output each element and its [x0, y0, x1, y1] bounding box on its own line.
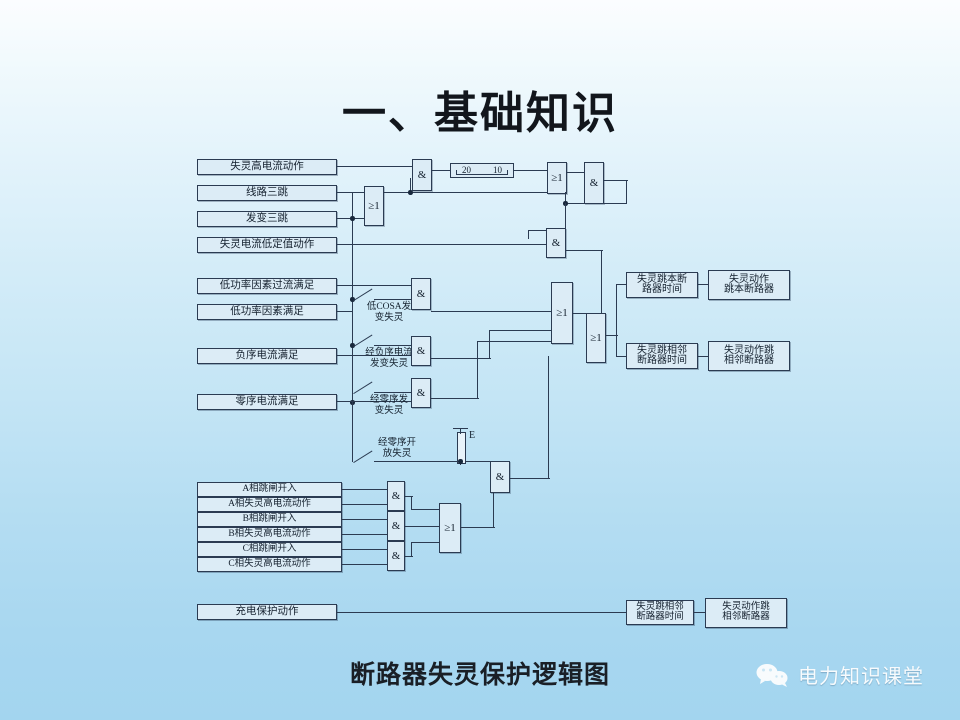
wire	[337, 192, 364, 193]
output-action-label: 失灵动作 跳本断路器	[724, 275, 774, 296]
input-box-负序电流满足[interactable]: 负序电流满足	[197, 348, 337, 364]
gate-and-1[interactable]: &	[412, 159, 432, 191]
wire	[342, 534, 387, 535]
wire	[411, 542, 439, 543]
page-title: 一、基础知识	[0, 92, 960, 136]
wire	[374, 345, 411, 346]
gate-symbol: &	[392, 490, 401, 502]
timer-value-left: 20	[462, 165, 471, 175]
output-timer-失灵跳相邻断路器时间[interactable]: 失灵跳相邻 断路器时间	[626, 343, 698, 369]
wire	[431, 358, 491, 359]
gate-symbol: &	[392, 520, 401, 532]
timer-value-right: 10	[493, 165, 502, 175]
timer-block[interactable]: 20 10	[450, 163, 514, 178]
input-label: 失灵电流低定值动作	[220, 239, 315, 250]
wire	[374, 299, 411, 300]
wire	[411, 509, 439, 510]
gate-symbol: &	[496, 471, 505, 483]
input-box-失灵电流低定值动作[interactable]: 失灵电流低定值动作	[197, 237, 337, 253]
input-box-低功率因素满足[interactable]: 低功率因素满足	[197, 304, 337, 320]
switch-经零序发变[interactable]	[354, 382, 374, 394]
gate-and-zero-open[interactable]: &	[490, 461, 510, 493]
wire	[337, 285, 411, 286]
wechat-icon	[756, 663, 790, 687]
input-label: 低功率因素满足	[230, 306, 304, 317]
wire	[337, 311, 352, 312]
wire	[411, 542, 412, 557]
gate-symbol: ≥1	[444, 522, 456, 534]
wire	[384, 192, 411, 193]
gate-and-3[interactable]: &	[546, 228, 566, 258]
wire	[342, 504, 387, 505]
input-label: 发变三跳	[246, 213, 288, 224]
slide-canvas: 一、基础知识 失灵高电流动作 线路三跳 发变三跳 失灵电流低定值动作 低功率因素…	[0, 0, 960, 720]
wire	[489, 330, 490, 359]
wire	[374, 392, 411, 393]
wire	[374, 461, 490, 462]
output-timer-label: 失灵跳相邻 断路器时间	[636, 603, 684, 623]
input-box-A相失灵高电流动作[interactable]: A相失灵高电流动作	[197, 497, 342, 512]
gate-symbol: ≥1	[556, 307, 568, 319]
input-box-零序电流满足[interactable]: 零序电流满足	[197, 394, 337, 410]
wire	[548, 356, 549, 479]
wire	[342, 489, 387, 490]
junction-dot	[458, 459, 463, 464]
output-timer-bottom-失灵跳相邻断路器时间[interactable]: 失灵跳相邻 断路器时间	[626, 600, 694, 625]
wire	[460, 428, 461, 434]
input-box-发变三跳[interactable]: 发变三跳	[197, 211, 337, 227]
input-label: A相失灵高电流动作	[228, 500, 311, 510]
wire	[432, 170, 450, 171]
gate-and-zero[interactable]: &	[411, 378, 431, 408]
wire	[352, 401, 353, 462]
gate-or-main[interactable]: ≥1	[551, 282, 573, 344]
gate-symbol: &	[417, 288, 426, 300]
wire	[604, 180, 628, 181]
gate-and-neg[interactable]: &	[411, 336, 431, 366]
wire	[698, 356, 708, 357]
gate-and-2[interactable]: &	[584, 162, 604, 204]
input-label: 负序电流满足	[236, 350, 299, 361]
switch-label-text: 经零序开 放失灵	[378, 438, 416, 459]
gate-symbol: &	[590, 177, 599, 189]
switch-label-text: 经负序电流 发变失灵	[365, 348, 413, 369]
gate-and-a[interactable]: &	[387, 481, 405, 511]
gate-and-b[interactable]: &	[387, 511, 405, 541]
wire	[616, 356, 626, 357]
input-label: C相失灵高电流动作	[228, 560, 310, 570]
input-label: B相失灵高电流动作	[228, 530, 310, 540]
switch-label-text: 经零序发 变失灵	[370, 395, 408, 416]
watermark: 电力知识课堂	[756, 660, 924, 689]
gate-or-1[interactable]: ≥1	[364, 186, 384, 226]
gate-symbol: ≥1	[368, 200, 380, 212]
gate-symbol: ≥1	[551, 172, 563, 184]
switch-经负序电流[interactable]	[354, 335, 374, 347]
switch-低cosa[interactable]	[354, 289, 374, 301]
wire	[431, 398, 479, 399]
wire	[510, 478, 550, 479]
wire	[626, 180, 627, 204]
wire	[405, 526, 439, 527]
resistor-label-text: E	[469, 430, 475, 441]
resistor-label-E: E	[469, 430, 475, 441]
gate-or-phase[interactable]: ≥1	[439, 503, 461, 553]
output-action-失灵动作跳本断路器[interactable]: 失灵动作 跳本断路器	[708, 270, 790, 300]
junction-dot	[350, 216, 355, 221]
input-label: A相跳闸开入	[242, 485, 296, 495]
wire	[461, 527, 495, 528]
gate-or-2[interactable]: ≥1	[547, 162, 567, 194]
input-label: C相跳闸开入	[243, 545, 297, 555]
wire	[514, 170, 547, 171]
input-box-C相跳闸开入[interactable]: C相跳闸开入	[197, 542, 342, 557]
output-timer-label: 失灵跳本断 路器时间	[637, 275, 687, 296]
switch-label-经零序开放失灵: 经零序开 放失灵	[360, 438, 434, 460]
wire	[566, 250, 603, 251]
wire	[477, 341, 478, 399]
wire	[567, 172, 584, 173]
gate-symbol: &	[418, 169, 427, 181]
input-box-充电保护动作[interactable]: 充电保护动作	[197, 604, 337, 620]
switch-label-text: 低COSA发 变失灵	[367, 302, 411, 323]
wire	[565, 203, 627, 204]
input-label: 充电保护动作	[236, 606, 299, 617]
wire	[477, 341, 551, 342]
gate-symbol: &	[392, 550, 401, 562]
gate-symbol: &	[552, 237, 561, 249]
wire	[410, 192, 565, 193]
wire	[694, 612, 705, 613]
wire	[352, 192, 353, 218]
wire	[431, 311, 551, 312]
input-label: B相跳闸开入	[243, 515, 297, 525]
input-box-B相跳闸开入[interactable]: B相跳闸开入	[197, 512, 342, 527]
wire	[337, 166, 412, 167]
wire	[342, 549, 387, 550]
input-box-B相失灵高电流动作[interactable]: B相失灵高电流动作	[197, 527, 342, 542]
output-timer-失灵跳本断路器时间[interactable]: 失灵跳本断 路器时间	[626, 272, 698, 298]
wire	[342, 519, 387, 520]
wire	[698, 284, 708, 285]
wire	[616, 284, 617, 357]
input-box-线路三跳[interactable]: 线路三跳	[197, 185, 337, 201]
gate-symbol: ≥1	[590, 332, 602, 344]
input-label: 低功率因素过流满足	[220, 280, 315, 291]
output-action-bottom-失灵动作跳相邻断路器[interactable]: 失灵动作跳 相邻断路器	[705, 598, 787, 628]
wire	[528, 230, 529, 239]
gate-symbol: &	[417, 387, 426, 399]
wire	[493, 492, 494, 528]
gate-and-c[interactable]: &	[387, 541, 405, 571]
input-label: 失灵高电流动作	[230, 161, 304, 172]
input-box-低功率因素过流满足[interactable]: 低功率因素过流满足	[197, 278, 337, 294]
input-box-A相跳闸开入[interactable]: A相跳闸开入	[197, 482, 342, 497]
wire	[565, 203, 566, 231]
input-label: 线路三跳	[246, 187, 288, 198]
wire	[411, 496, 412, 510]
wire	[489, 330, 551, 331]
input-box-失灵高电流动作[interactable]: 失灵高电流动作	[197, 159, 337, 175]
watermark-text: 电力知识课堂	[798, 660, 924, 689]
wire	[337, 612, 626, 613]
output-action-label: 失灵动作跳 相邻断路器	[722, 603, 770, 623]
output-action-label: 失灵动作跳 相邻断路器	[724, 346, 774, 367]
output-timer-label: 失灵跳相邻 断路器时间	[637, 346, 687, 367]
input-box-C相失灵高电流动作[interactable]: C相失灵高电流动作	[197, 557, 342, 572]
output-action-失灵动作跳相邻断路器[interactable]: 失灵动作跳 相邻断路器	[708, 341, 790, 371]
gate-or-final[interactable]: ≥1	[586, 313, 606, 363]
input-label: 零序电流满足	[236, 396, 299, 407]
wire	[616, 284, 626, 285]
wire	[337, 244, 546, 245]
wire	[601, 250, 602, 314]
gate-symbol: &	[417, 345, 426, 357]
wire	[342, 564, 387, 565]
gate-and-cos[interactable]: &	[411, 278, 431, 310]
